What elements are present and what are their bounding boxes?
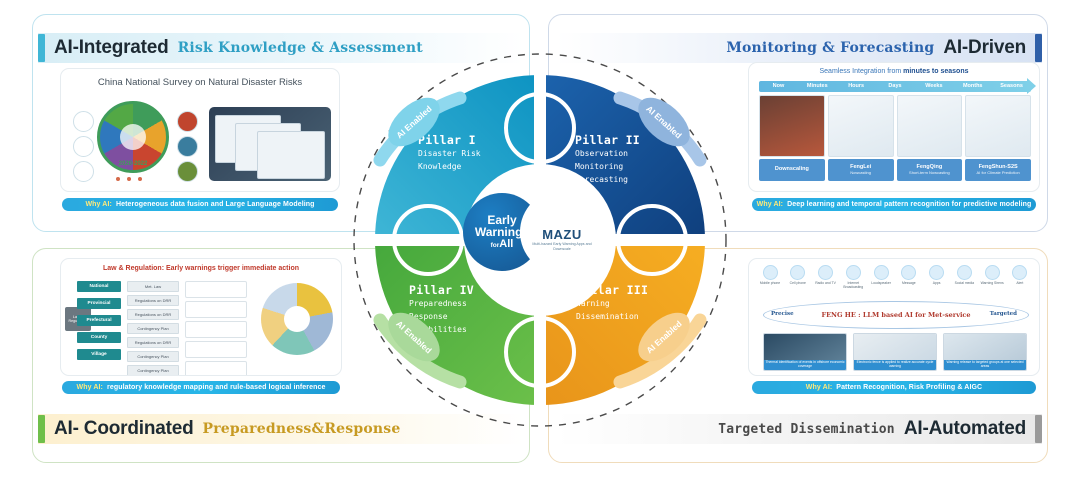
channel-item: Warning Sirens — [979, 265, 1005, 289]
channel-label: Message — [902, 282, 916, 286]
timeline-tick: Now — [759, 81, 798, 92]
flood-icon — [73, 136, 94, 157]
pillar-title: Pillar III — [576, 283, 648, 297]
level-node: County — [77, 332, 121, 343]
title-sub: Monitoring & Forecasting — [726, 40, 934, 56]
survey-heading: China National Survey on Natural Disaste… — [61, 77, 339, 88]
case-image — [764, 334, 846, 360]
social-media-icon — [957, 265, 972, 280]
cell-phone-icon — [790, 265, 805, 280]
case-caption: Electronic fence is applied to realize a… — [854, 360, 936, 370]
model-sub: Nowcasting — [850, 171, 871, 175]
pillar-2-label: Pillar II Observation Monitoring Forecas… — [575, 133, 640, 185]
case-image — [944, 334, 1026, 360]
map-sheet — [257, 131, 325, 179]
level-node: Provincial — [77, 298, 121, 309]
timeline-tick: Weeks — [914, 81, 953, 92]
timeline-tick: Days — [876, 81, 915, 92]
fire-icon — [177, 111, 198, 132]
why-key: Why AI: — [85, 201, 112, 208]
coast-icon — [177, 136, 198, 157]
admin-level-column: National Provincial Prefectural County V… — [77, 281, 121, 360]
regulation-node: Regulations on DRR — [127, 309, 179, 320]
timeline-tick: Seasons — [992, 81, 1031, 92]
infographic-canvas: AI-Integrated Risk Knowledge & Assessmen… — [0, 0, 1080, 477]
law-heading: Law & Regulation: Early warnings trigger… — [61, 265, 341, 272]
response-sector-wheel — [261, 283, 333, 355]
case-caption: Thermal identification of events in offs… — [764, 360, 846, 370]
why-key: Why AI: — [757, 201, 784, 208]
pillar-line: Forecasting — [575, 175, 640, 186]
forecast-thumbnail — [897, 95, 963, 157]
pillar-line: Monitoring — [575, 162, 640, 173]
channel-item: Cell phone — [785, 265, 811, 289]
mazu-tagline: Multi-hazard Early Warning Apps and Down… — [527, 242, 597, 250]
title-accent-tick — [38, 415, 45, 443]
mountain-icon — [73, 111, 94, 132]
channel-label: Loudspeaker — [871, 282, 891, 286]
title-accent-tick — [38, 34, 45, 62]
channel-item: Radio and TV — [813, 265, 839, 289]
channel-item: Alert — [1007, 265, 1033, 289]
forecast-thumbnail-row — [759, 95, 1031, 157]
why-key: Why AI: — [77, 384, 104, 391]
channel-item: Message — [896, 265, 922, 289]
radio-tv-icon — [818, 265, 833, 280]
forecast-thumbnail — [965, 95, 1031, 157]
channel-label: Cell phone — [790, 282, 806, 286]
alert-icon — [1012, 265, 1027, 280]
case-screenshot-row: Thermal identification of events in offs… — [763, 333, 1027, 371]
why-text: regulatory knowledge mapping and rule-ba… — [107, 384, 325, 391]
level-node: Village — [77, 349, 121, 360]
timeline-tick: Hours — [837, 81, 876, 92]
loudspeaker-icon — [874, 265, 889, 280]
pillar-3-label: Pillar III Warning Dissemination — [576, 283, 648, 323]
title-main: AI- Coordinated — [54, 418, 194, 440]
model-card: Downscaling — [759, 159, 825, 181]
model-name: Downscaling — [775, 167, 809, 173]
why-text: Deep learning and temporal pattern recog… — [787, 201, 1031, 208]
model-card: FengLei Nowcasting — [828, 159, 894, 181]
ewa-all: All — [499, 238, 513, 250]
action-screenshot — [185, 301, 247, 318]
action-screenshot-column — [185, 281, 247, 376]
case-card: Thermal identification of events in offs… — [763, 333, 847, 371]
title-accent-tick — [1035, 415, 1042, 443]
title-accent-tick — [1035, 34, 1042, 62]
pillar-line: Preparedness — [409, 299, 474, 310]
regulation-node: Regulations on DRR — [127, 295, 179, 306]
regulation-node: Met. Law — [127, 281, 179, 292]
title-main: AI-Automated — [904, 418, 1026, 440]
channel-label: Social media — [955, 282, 974, 286]
channel-item: Internet Broadcasting — [840, 265, 866, 289]
case-card: Warning release to targeted groups at on… — [943, 333, 1027, 371]
mobile-phone-icon — [763, 265, 778, 280]
why-ai-bar-risk-knowledge: Why AI: Heterogeneous data fusion and La… — [62, 198, 338, 211]
action-screenshot — [185, 361, 247, 376]
fenghe-banner: FENG HE : LLM based AI for Met-service — [763, 301, 1029, 329]
channel-label: Internet Broadcasting — [840, 282, 866, 289]
regulation-node: Regulations on DRR — [127, 337, 179, 348]
pillar-line: Dissemination — [576, 312, 648, 323]
why-ai-bar-monitoring: Why AI: Deep learning and temporal patte… — [752, 198, 1036, 211]
channel-label: Apps — [933, 282, 941, 286]
forest-icon — [177, 161, 198, 182]
why-ai-bar-dissemination: Why AI: Pattern Recognition, Risk Profil… — [752, 381, 1036, 394]
why-key: Why AI: — [806, 384, 833, 391]
wave-icon — [73, 161, 94, 182]
why-text: Pattern Recognition, Risk Profiling & AI… — [836, 384, 982, 391]
forecast-thumbnail — [828, 95, 894, 157]
action-screenshot — [185, 321, 247, 338]
pillar-title: Pillar IV — [409, 283, 474, 297]
title-sub: Targeted Dissemination — [718, 422, 895, 437]
channel-item: Loudspeaker — [868, 265, 894, 289]
channel-label: Warning Sirens — [981, 282, 1004, 286]
case-image — [854, 334, 936, 360]
seamless-heading: Seamless Integration from minutes to sea… — [749, 68, 1039, 75]
title-main: AI-Integrated — [54, 37, 169, 59]
regulation-node: Contingency Plan — [127, 323, 179, 334]
pillar-title: Pillar II — [575, 133, 640, 147]
pillar-1-label: Pillar I Disaster Risk Knowledge — [418, 133, 481, 173]
pillar-line: Observation — [575, 149, 640, 160]
channel-item: Apps — [924, 265, 950, 289]
timeline-arrow-icon — [1027, 78, 1036, 94]
risk-map-stack — [209, 107, 331, 181]
level-node: Prefectural — [77, 315, 121, 326]
channel-label: Mobile phone — [760, 282, 780, 286]
level-node: National — [77, 281, 121, 292]
law-regulation-card: Law & Regulation: Early warnings trigger… — [60, 258, 342, 376]
forecast-thumbnail — [759, 95, 825, 157]
timeline-tick: Minutes — [798, 81, 837, 92]
case-card: Electronic fence is applied to realize a… — [853, 333, 937, 371]
timeline-tick: Months — [953, 81, 992, 92]
action-screenshot — [185, 341, 247, 358]
emblem-years: 2020-2022 — [97, 161, 169, 167]
pillar-line: Disaster Risk — [418, 149, 481, 160]
title-main: AI-Driven — [943, 37, 1026, 59]
message-icon — [901, 265, 916, 280]
forecast-timeline-card: Seamless Integration from minutes to sea… — [748, 62, 1040, 192]
channel-label: Alert — [1016, 282, 1023, 286]
hazard-icon-column-left — [73, 111, 94, 182]
model-card: FengQing Short-term Nowcasting — [897, 159, 963, 181]
hazard-icon-column-right — [177, 111, 198, 182]
case-caption: Warning release to targeted groups at on… — [944, 360, 1026, 370]
why-ai-bar-preparedness: Why AI: regulatory knowledge mapping and… — [62, 381, 340, 394]
survey-card: China National Survey on Natural Disaste… — [60, 68, 340, 192]
pillar-title: Pillar I — [418, 133, 481, 147]
ewa-line-3: forAll — [491, 239, 514, 251]
model-sub: Short-term Nowcasting — [909, 171, 950, 175]
channel-label: Radio and TV — [815, 282, 836, 286]
mazu-name: MAZU — [542, 227, 582, 242]
fenghe-text: FENG HE : LLM based AI for Met-service — [821, 311, 970, 319]
seamless-pre: Seamless Integration from — [819, 68, 903, 75]
pillar-line: Knowledge — [418, 162, 481, 173]
model-label-row: Downscaling FengLei Nowcasting FengQing … — [759, 159, 1031, 181]
channel-item: Mobile phone — [757, 265, 783, 289]
channel-item: Social media — [951, 265, 977, 289]
channel-icon-strip: Mobile phone Cell phone Radio and TV Int… — [757, 265, 1033, 289]
broadcasting-icon — [846, 265, 861, 280]
model-card: FengShun-S2S AI for Climate Prediction — [965, 159, 1031, 181]
regulation-column: Met. Law Regulations on DRR Regulations … — [127, 281, 179, 376]
regulation-node: Contingency Plan — [127, 351, 179, 362]
mazu-logo: MAZU Multi-hazard Early Warning Apps and… — [520, 190, 604, 274]
why-text: Heterogeneous data fusion and Large Lang… — [116, 201, 315, 208]
dissemination-card: Mobile phone Cell phone Radio and TV Int… — [748, 258, 1040, 376]
timeline-scale: Now Minutes Hours Days Weeks Months Seas… — [759, 81, 1031, 92]
action-screenshot — [185, 281, 247, 298]
ewa-for: for — [491, 242, 500, 249]
warning-siren-icon — [985, 265, 1000, 280]
apps-icon — [929, 265, 944, 280]
regulation-node: Contingency Plan — [127, 365, 179, 376]
seamless-bold: minutes to seasons — [903, 68, 968, 75]
emblem-dots — [116, 177, 142, 181]
pillar-line: Warning — [576, 299, 648, 310]
model-sub: AI for Climate Prediction — [977, 171, 1020, 175]
